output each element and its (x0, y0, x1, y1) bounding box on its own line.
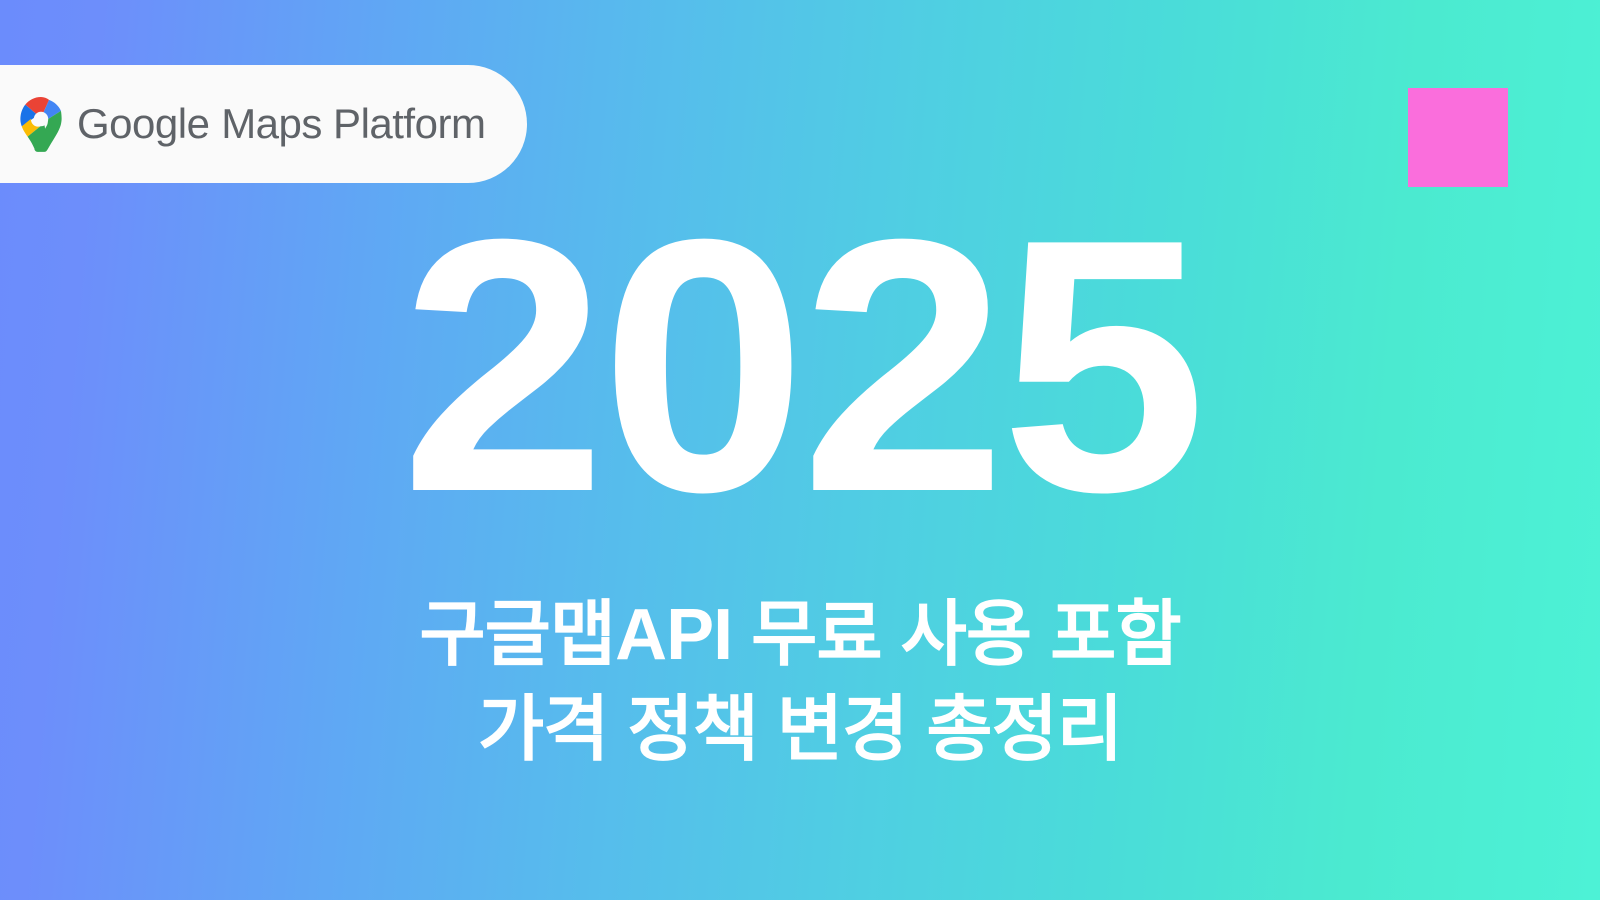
google-maps-platform-wordmark: Google Maps Platform (77, 103, 485, 145)
pink-square-shape (1408, 88, 1508, 187)
subtitle-line-2: 가격 정책 변경 총정리 (0, 683, 1600, 778)
subtitle-line-1: 구글맵API 무료 사용 포함 (0, 588, 1600, 683)
google-maps-platform-badge[interactable]: Google Maps Platform (0, 65, 527, 183)
pink-accent-square (1408, 88, 1508, 187)
wordmark-google: Google (77, 103, 209, 145)
subtitle-container: 구글맵API 무료 사용 포함 가격 정책 변경 총정리 (0, 588, 1600, 778)
google-maps-pin-icon (20, 97, 62, 152)
poster-canvas: Google Maps Platform 2025 구글맵API 무료 사용 포… (0, 0, 1600, 900)
wordmark-maps-platform: Maps Platform (221, 103, 485, 145)
pin-center-dot (34, 111, 48, 125)
